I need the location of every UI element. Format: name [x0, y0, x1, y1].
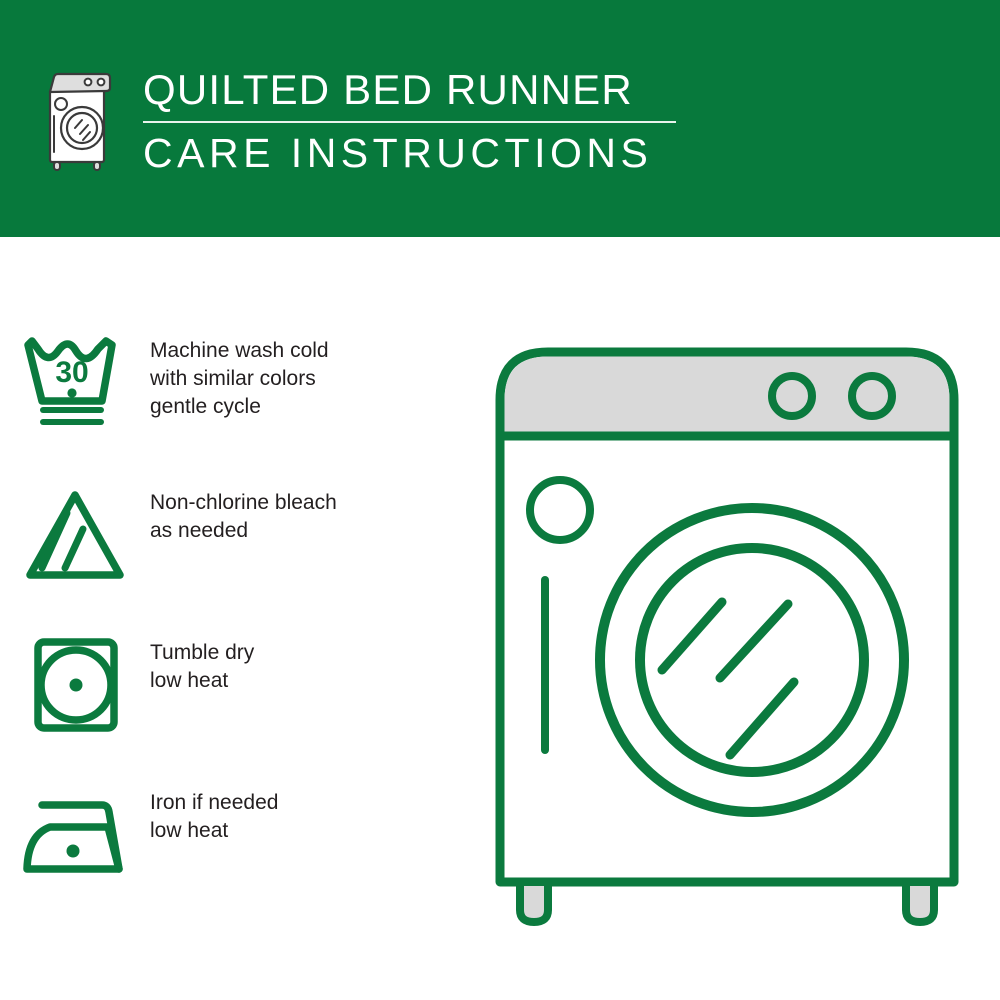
care-text-bleach: Non-chlorine bleach as needed	[150, 487, 470, 545]
care-text-tumble-dry: Tumble dry low heat	[150, 637, 470, 695]
care-symbol-list: 30 Machine wash cold with similar colors…	[0, 237, 470, 1000]
care-row-bleach: Non-chlorine bleach as needed	[0, 487, 470, 583]
care-instructions-infographic: QUILTED BED RUNNER CARE INSTRUCTIONS 30	[0, 0, 1000, 1000]
page-subtitle: CARE INSTRUCTIONS	[143, 129, 903, 177]
header-banner: QUILTED BED RUNNER CARE INSTRUCTIONS	[0, 0, 1000, 237]
care-text-wash: Machine wash cold with similar colors ge…	[150, 335, 470, 421]
care-text-iron: Iron if needed low heat	[150, 787, 470, 845]
care-row-iron: Iron if needed low heat	[0, 787, 470, 883]
title-divider	[143, 121, 676, 123]
iron-low-heat-icon	[0, 787, 150, 883]
wash-tub-30-gentle-icon: 30	[0, 335, 150, 431]
tumble-dry-low-heat-icon	[0, 637, 150, 733]
care-row-wash: 30 Machine wash cold with similar colors…	[0, 335, 470, 431]
page-title: QUILTED BED RUNNER	[143, 66, 903, 114]
header-text-block: QUILTED BED RUNNER CARE INSTRUCTIONS	[143, 66, 903, 177]
washing-machine-illustration	[492, 330, 962, 930]
non-chlorine-bleach-triangle-icon	[0, 487, 150, 583]
washing-machine-logo-icon	[44, 68, 116, 172]
care-row-tumble-dry: Tumble dry low heat	[0, 637, 470, 733]
svg-text:30: 30	[55, 356, 88, 389]
